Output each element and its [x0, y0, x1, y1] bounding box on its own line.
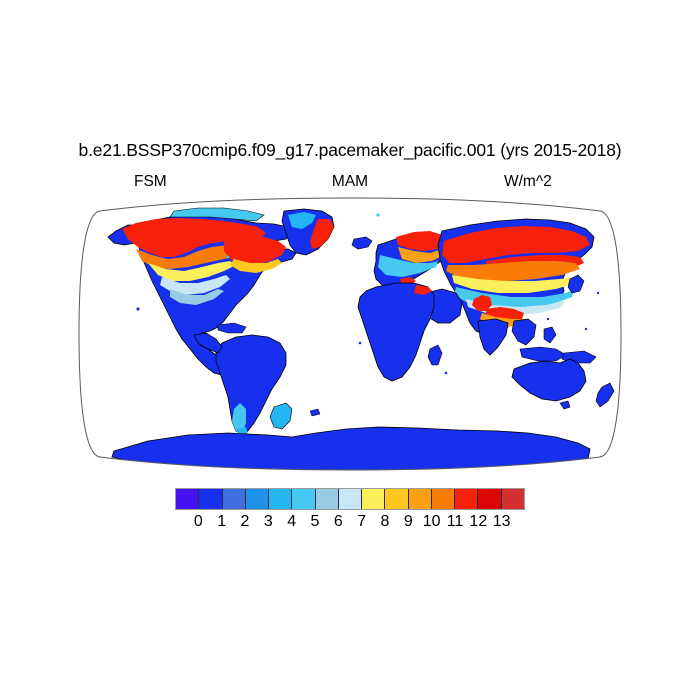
colorbar-cell — [409, 489, 432, 509]
map-plot-area — [78, 197, 622, 471]
colorbar-cell — [339, 489, 362, 509]
page-title: b.e21.BSSP370cmip6.f09_g17.pacemaker_pac… — [0, 140, 700, 161]
colorbar-tick-label: 6 — [334, 512, 343, 532]
colorbar-cell — [176, 489, 199, 509]
colorbar-cell — [385, 489, 408, 509]
colorbar-tick-label: 0 — [194, 512, 203, 532]
colorbar-tick-label: 8 — [381, 512, 390, 532]
colorbar-tick-label: 3 — [264, 512, 273, 532]
colorbar-cell — [246, 489, 269, 509]
colorbar-cell — [223, 489, 246, 509]
colorbar-tick-label: 5 — [311, 512, 320, 532]
colorbar-tick-label: 10 — [423, 512, 441, 532]
figure-canvas: b.e21.BSSP370cmip6.f09_g17.pacemaker_pac… — [0, 0, 700, 700]
colorbar-tick-label: 13 — [493, 512, 511, 532]
colorbar-cell — [292, 489, 315, 509]
colorbar-swatches — [175, 488, 525, 510]
season-label: MAM — [0, 173, 700, 191]
colorbar-cell — [316, 489, 339, 509]
colorbar-cell — [478, 489, 501, 509]
colorbar-tick-label: 12 — [469, 512, 487, 532]
colorbar-cell — [199, 489, 222, 509]
colorbar-cell — [432, 489, 455, 509]
colorbar-cell — [502, 489, 524, 509]
colorbar-cell — [362, 489, 385, 509]
colorbar-tick-label: 1 — [217, 512, 226, 532]
colorbar-cell — [455, 489, 478, 509]
subheader-row: FSM MAM W/m^2 — [0, 173, 700, 193]
colorbar: 012345678910111213 — [175, 488, 525, 510]
colorbar-tick-label: 11 — [447, 512, 464, 532]
world-map — [78, 197, 622, 471]
colorbar-tick-label: 2 — [241, 512, 250, 532]
colorbar-tick-label: 7 — [357, 512, 366, 532]
map-ocean-layer — [78, 197, 622, 471]
colorbar-cell — [269, 489, 292, 509]
colorbar-tick-label: 4 — [287, 512, 296, 532]
colorbar-tick-labels: 012345678910111213 — [175, 512, 525, 534]
units-label: W/m^2 — [504, 173, 552, 191]
colorbar-tick-label: 9 — [404, 512, 413, 532]
